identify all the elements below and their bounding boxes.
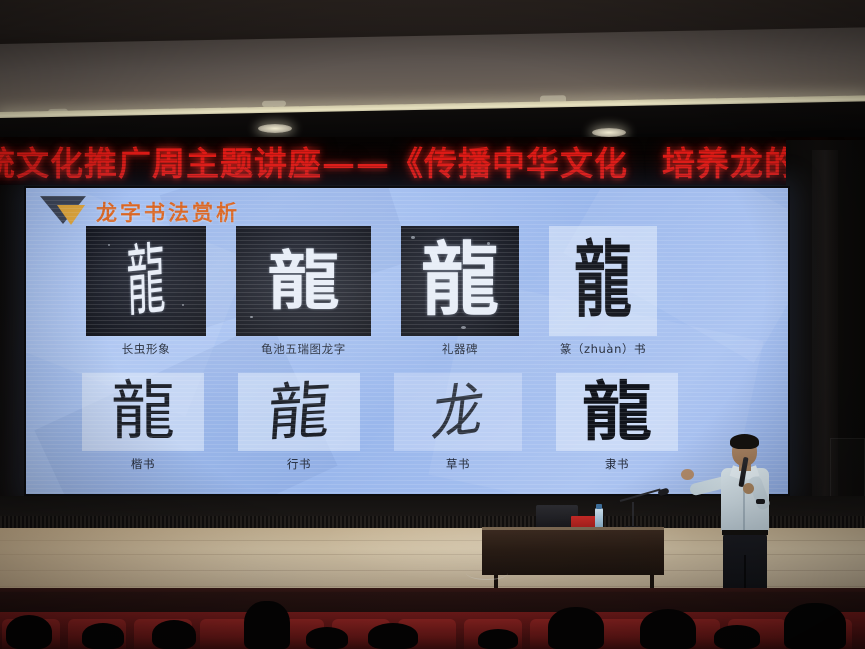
calligraphy-caption: 礼器碑 [442, 341, 478, 357]
presenter-wristwatch [756, 499, 765, 504]
audience-head [714, 625, 760, 649]
logo-gold-triangle [57, 205, 85, 225]
calligraphy-tile-image: 龍 [238, 373, 360, 451]
calligraphy-glyph: 龍 [267, 249, 339, 312]
calligraphy-caption: 行书 [287, 456, 311, 472]
audience-head [244, 601, 290, 649]
projection-screen: 龙字书法赏析 龍 长虫形象 龍 [24, 186, 790, 496]
calligraphy-glyph: 龍 [126, 240, 166, 321]
presenter-belt [722, 530, 768, 535]
calligraphy-glyph: 龍 [111, 380, 175, 444]
calligraphy-cell-5: 龍 楷书 [82, 373, 204, 472]
presenter-left-hand [743, 483, 754, 494]
calligraphy-row-1: 龍 长虫形象 龍 龟池五瑞图龙字 [26, 226, 788, 357]
rubbing-speck [461, 326, 466, 329]
calligraphy-tile-image: 龍 [556, 373, 678, 451]
calligraphy-cell-3: 龍 礼器碑 [401, 226, 519, 357]
calligraphy-caption: 草书 [446, 456, 470, 472]
calligraphy-cell-2: 龍 龟池五瑞图龙字 [236, 226, 371, 357]
led-banner-text: 统文化推广周主题讲座——《传播中华文化 培养龙的传人 [0, 137, 865, 185]
presentation-slide: 龙字书法赏析 龍 长虫形象 龍 [26, 188, 788, 494]
water-bottle-cap [596, 504, 602, 509]
audience-head [82, 623, 124, 649]
audience-head [640, 609, 696, 649]
calligraphy-caption: 楷书 [131, 456, 155, 472]
audience-head [478, 629, 518, 649]
calligraphy-cell-8: 龍 隶书 [556, 373, 678, 472]
rubbing-speck [487, 242, 490, 245]
audience-head [6, 615, 52, 649]
calligraphy-row-2: 龍 楷书 龍 行书 龙 草书 [26, 373, 788, 472]
seat-row [0, 612, 865, 649]
calligraphy-caption: 龟池五瑞图龙字 [261, 341, 346, 357]
calligraphy-glyph: 龍 [421, 241, 499, 321]
downlight-1 [258, 124, 292, 133]
calligraphy-cell-1: 龍 长虫形象 [86, 226, 206, 357]
rubbing-speck [250, 316, 253, 318]
calligraphy-caption: 隶书 [605, 456, 629, 472]
calligraphy-cell-6: 龍 行书 [238, 373, 360, 472]
presenter-right-hand [681, 469, 694, 480]
calligraphy-glyph: 龍 [574, 240, 632, 323]
led-banner: 统文化推广周主题讲座——《传播中华文化 培养龙的传人 [0, 137, 865, 185]
audience-head [548, 607, 604, 649]
presenter-hair [730, 434, 759, 449]
triangle-logo-icon [40, 196, 86, 228]
calligraphy-glyph: 龍 [266, 379, 333, 444]
floor-cable [466, 566, 508, 580]
slide-header: 龙字书法赏析 [40, 196, 240, 228]
calligraphy-tile-image: 龍 [236, 226, 371, 336]
calligraphy-caption: 篆（zhuàn）书 [560, 341, 646, 357]
downlight-2 [592, 128, 626, 137]
calligraphy-caption: 长虫形象 [122, 341, 170, 357]
calligraphy-cell-4: 龍 篆（zhuàn）书 [549, 226, 657, 357]
podium-table [482, 527, 664, 575]
audience-head [784, 603, 846, 649]
calligraphy-tile-image: 龍 [86, 226, 206, 336]
calligraphy-glyph: 龙 [429, 379, 487, 445]
audience-head [152, 620, 196, 649]
presenter [700, 437, 796, 607]
calligraphy-grid: 龍 长虫形象 龍 龟池五瑞图龙字 [26, 226, 788, 472]
calligraphy-tile-image: 龍 [82, 373, 204, 451]
audience-head [368, 623, 418, 649]
auditorium-photo: 统文化推广周主题讲座——《传播中华文化 培养龙的传人 龙字书法赏析 [0, 0, 865, 649]
calligraphy-tile-image: 龍 [549, 226, 657, 336]
rubbing-speck [182, 304, 184, 306]
calligraphy-tile-image: 龍 [401, 226, 519, 336]
calligraphy-glyph: 龍 [582, 380, 652, 444]
rubbing-speck [108, 244, 110, 246]
audience-head [306, 627, 348, 649]
calligraphy-tile-image: 龙 [394, 373, 522, 451]
slide-title: 龙字书法赏析 [96, 197, 240, 227]
rubbing-speck [411, 236, 415, 239]
calligraphy-cell-7: 龙 草书 [394, 373, 522, 472]
microphone-stand [632, 502, 634, 529]
